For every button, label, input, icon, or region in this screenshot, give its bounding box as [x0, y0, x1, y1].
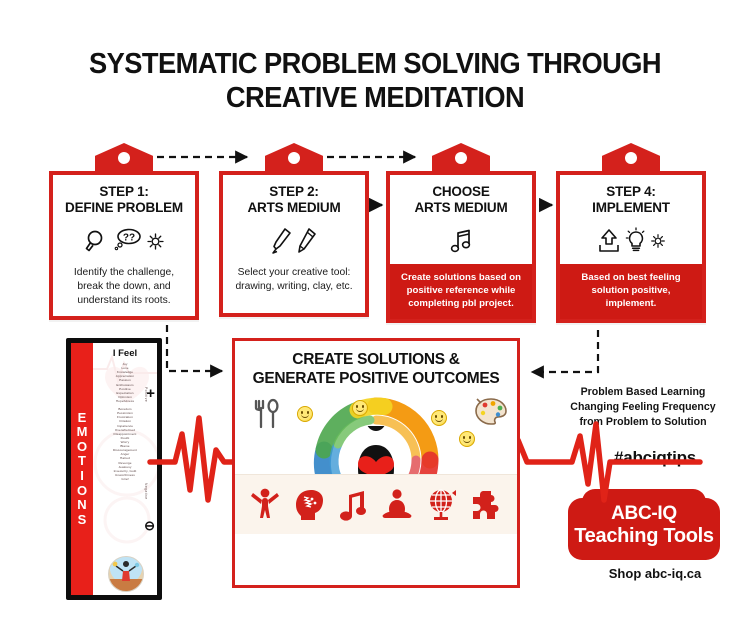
svg-text:??: ??	[122, 233, 134, 244]
hashtag-label: #abciqtips	[560, 448, 750, 468]
meditating-person-icon	[381, 488, 413, 522]
person-arms-up-icon	[250, 488, 280, 522]
puzzle-piece-icon	[471, 489, 503, 521]
main-outcome-panel[interactable]: CREATE SOLUTIONS & GENERATE POSITIVE OUT…	[232, 338, 520, 588]
negative-side-label: Negative	[144, 483, 148, 500]
step-card-4-banner: Based on best feeling solution positive,…	[560, 264, 702, 318]
emotions-letter: S	[78, 513, 87, 528]
page-title: SYSTEMATIC PROBLEM SOLVING THROUGH CREAT…	[23, 48, 728, 116]
title-line-2: CREATIVE MEDITATION	[23, 82, 728, 116]
palette-icon	[473, 396, 509, 426]
step-heading-line2: ARTS MEDIUM	[414, 200, 507, 215]
step-card-4-heading: STEP 4: IMPLEMENT	[588, 175, 674, 216]
positive-marker-icon: +	[146, 385, 155, 402]
pbl-line-2: Changing Feeling Frequency	[570, 401, 715, 413]
step-2-icons	[271, 220, 318, 262]
smiley-icon	[431, 410, 447, 426]
emotions-vertical-label: EMOTIONS	[71, 343, 93, 595]
emotions-list-area: I Feel Positive Negative + ⊖ JoyLoveKnow…	[93, 343, 157, 595]
globe-icon	[426, 488, 458, 522]
step-heading-line1: CHOOSE	[432, 184, 489, 199]
upload-icon	[596, 227, 622, 255]
infographic-canvas: SYSTEMATIC PROBLEM SOLVING THROUGH CREAT…	[0, 0, 750, 628]
emotion-word-lists: JoyLoveKnowledgeAppreciationPassionEnthu…	[93, 359, 157, 481]
i-feel-header: I Feel	[93, 343, 157, 359]
music-note-icon	[447, 227, 475, 255]
step-heading-line1: STEP 2:	[269, 184, 318, 199]
title-line-1: SYSTEMATIC PROBLEM SOLVING THROUGH	[89, 48, 661, 80]
step-card-3-banner: Create solutions based on positive refer…	[390, 264, 532, 318]
music-note-icon	[338, 488, 368, 522]
emotions-poster[interactable]: EMOTIONS I Feel Positive Negative + ⊖ Jo…	[66, 338, 162, 600]
step-card-2[interactable]: STEP 2: ARTS MEDIUM Select your creative…	[219, 171, 369, 317]
lightbulb-icon	[625, 227, 647, 255]
step-card-4[interactable]: STEP 4: IMPLEMENT	[556, 171, 706, 323]
step-card-2-heading: STEP 2: ARTS MEDIUM	[243, 175, 344, 216]
logo-line-2: Teaching Tools	[568, 525, 720, 548]
negative-marker-icon: ⊖	[144, 518, 155, 534]
step-card-1-body: STEP 1: DEFINE PROBLEM ??	[49, 171, 199, 320]
emotions-letter: O	[77, 440, 87, 455]
step-heading-line2: ARTS MEDIUM	[247, 200, 340, 215]
negative-emotion-word: Grief	[95, 477, 155, 481]
step-card-3-heading: CHOOSE ARTS MEDIUM	[410, 175, 511, 216]
head-brain-icon	[293, 488, 325, 522]
step-card-3-body: CHOOSE ARTS MEDIUM Create solutions base…	[386, 171, 536, 323]
gear-icon	[650, 233, 666, 249]
magnifier-icon	[84, 228, 110, 254]
arrow-step1-panel	[167, 325, 222, 371]
logo-line-1: ABC-IQ	[568, 503, 720, 525]
step-card-2-text: Select your creative tool: drawing, writ…	[223, 264, 365, 302]
step-card-4-body: STEP 4: IMPLEMENT	[556, 171, 706, 323]
shop-url[interactable]: Shop abc-iq.ca	[560, 566, 750, 581]
panel-heading: CREATE SOLUTIONS & GENERATE POSITIVE OUT…	[235, 341, 517, 392]
emotions-letter: T	[78, 454, 86, 469]
step-3-icons	[447, 220, 475, 262]
panel-heading-line2: GENERATE POSITIVE OUTCOMES	[253, 370, 500, 387]
pbl-description: Problem Based Learning Changing Feeling …	[536, 385, 750, 430]
step-heading-line2: DEFINE PROBLEM	[65, 200, 183, 215]
step-heading-line1: STEP 1:	[99, 184, 148, 199]
step-card-1[interactable]: STEP 1: DEFINE PROBLEM ??	[49, 171, 199, 320]
question-bubble-icon: ??	[113, 228, 143, 254]
smiley-icon	[459, 431, 475, 447]
pencil-icon	[296, 226, 318, 256]
arrow-step4-panel	[532, 330, 598, 372]
paintbrush-icon	[271, 226, 293, 256]
step-card-1-heading: STEP 1: DEFINE PROBLEM	[61, 175, 187, 216]
emotions-letter: E	[78, 411, 87, 426]
brand-logo[interactable]: ABC-IQ Teaching Tools	[568, 498, 720, 560]
fork-spoon-icon	[253, 398, 281, 430]
panel-icon-strip	[235, 474, 517, 534]
logo-text: ABC-IQ Teaching Tools	[568, 498, 720, 547]
panel-heading-line1: CREATE SOLUTIONS &	[292, 351, 459, 368]
emotions-letter: M	[77, 425, 88, 440]
step-card-3[interactable]: CHOOSE ARTS MEDIUM Create solutions base…	[386, 171, 536, 323]
poster-photo-icon	[108, 556, 144, 592]
step-card-2-body: STEP 2: ARTS MEDIUM Select your creative…	[219, 171, 369, 317]
pbl-line-1: Problem Based Learning	[581, 386, 706, 398]
negative-emotion-words: BoredomPessimismFrustrationIrritationImp…	[95, 407, 155, 481]
gear-icon	[146, 232, 165, 251]
emotions-letter: O	[77, 484, 87, 499]
step-card-1-text: Identify the challenge, break the down, …	[53, 264, 195, 316]
emotions-letter: N	[77, 498, 86, 513]
step-1-icons: ??	[84, 220, 165, 262]
step-heading-line2: IMPLEMENT	[592, 200, 670, 215]
pbl-line-3: from Problem to Solution	[579, 416, 706, 428]
emotions-letter: I	[80, 469, 84, 484]
emotions-poster-inner: EMOTIONS I Feel Positive Negative + ⊖ Jo…	[71, 343, 157, 595]
step-4-icons	[596, 220, 666, 262]
panel-artwork	[235, 392, 517, 534]
step-heading-line1: STEP 4:	[606, 184, 655, 199]
